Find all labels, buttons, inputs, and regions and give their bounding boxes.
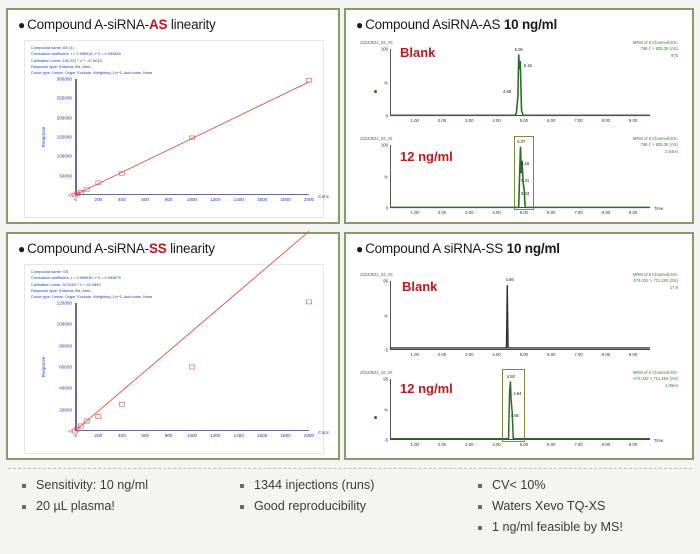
title-prefix: Compound A-siRNA- [27, 17, 149, 32]
trace-marker-dot [374, 90, 377, 93]
x-tick: 8.00 [602, 118, 610, 123]
y-tick-mid: % [384, 407, 388, 412]
footer-column-3: CV< 10% Waters Xevo TQ-XS 1 ng/ml feasib… [478, 478, 623, 541]
bullet-icon [478, 526, 482, 530]
list-item-label: 1 ng/ml feasible by MS! [492, 520, 623, 534]
list-item-label: Sensitivity: 10 ng/ml [36, 478, 148, 492]
bullet-icon [22, 505, 26, 509]
panel-ss-linearity: ●Compound A-siRNA-SS linearity Compound … [6, 232, 340, 460]
y-tick: 300000 [57, 77, 72, 82]
chromatogram-plot: 95 % -5 Blank 4.56 1.00 2.00 3.00 4.00 5… [390, 281, 650, 350]
title-bold: 10 ng/ml [507, 241, 560, 256]
chromatogram-plot: 100 % 0 12 ng/ml 5.07 5.16 5.31 5.43 Tim… [390, 145, 650, 208]
list-item-label: 1344 injections (runs) [254, 478, 374, 492]
x-tick: 5.00 [520, 442, 528, 447]
title-prefix: Compound A-siRNA- [27, 241, 149, 256]
x-axis-label: Conc [318, 430, 329, 435]
peak-label: 4.64 [513, 391, 521, 396]
peak-label: 5.43 [521, 191, 529, 196]
x-tick: -0 [73, 197, 77, 202]
panel-title-as-linearity: ●Compound A-siRNA-AS linearity [18, 17, 216, 32]
y-tick: 60000 [59, 365, 72, 370]
x-tick: 4.00 [492, 352, 500, 357]
calibration-header-as: Compound name: AS (1) Correlation coeffi… [31, 45, 152, 77]
x-tick: 5.00 [520, 118, 528, 123]
peak-label: 4.80 [507, 374, 515, 379]
bullet-icon [240, 505, 244, 509]
y-axis-label: Response [41, 357, 46, 378]
chromatogram-plot: 100 % 0 Blank 5.05 5.16 4.88 1.00 2.00 3… [390, 49, 650, 116]
list-item: Waters Xevo TQ-XS [478, 499, 623, 513]
x-tick: 3.00 [465, 118, 473, 123]
x-tick: 5.00 [520, 210, 528, 215]
list-item: CV< 10% [478, 478, 623, 492]
peak-label: 5.05 [515, 47, 523, 52]
y-axis-label: Response [41, 127, 46, 148]
y-tick-bottom: 0 [386, 206, 388, 211]
footer-divider [8, 468, 692, 470]
trace-svg [390, 145, 650, 208]
x-tick: 2000 [304, 197, 314, 202]
x-tick: 1600 [257, 433, 267, 438]
x-tick: 3.00 [465, 352, 473, 357]
sample-id: 20220521_03_03 [360, 272, 393, 277]
list-item: Sensitivity: 10 ng/ml [22, 478, 148, 492]
y-tick-top: 100 [381, 143, 388, 148]
chromatogram-plot: 95 % -5 12 ng/ml 4.80 4.64 4.86 Time 1.0… [390, 379, 650, 440]
slide: ●Compound A-siRNA-AS linearity Compound … [0, 0, 700, 554]
y-tick-top: 95 [383, 377, 388, 382]
x-tick: 4.00 [492, 210, 500, 215]
bullet-icon [478, 484, 482, 488]
chromatogram-as-sample: 20220521_03_04 MRM of 8 Channels ES- 786… [354, 136, 684, 222]
x-tick: 4.00 [492, 442, 500, 447]
bullet-icon [478, 505, 482, 509]
x-tick: 600 [141, 197, 149, 202]
x-axis-label: Time [654, 438, 663, 443]
calibration-curve-svg [75, 303, 309, 431]
sample-id: 20220521_03_04 [360, 370, 393, 375]
x-tick: 9.00 [629, 118, 637, 123]
x-tick: 800 [165, 433, 173, 438]
bullet-icon [240, 484, 244, 488]
y-tick-bottom: 0 [386, 114, 388, 119]
list-item-label: Good reproducibility [254, 499, 366, 513]
title-suffix: linearity [167, 17, 215, 32]
y-tick: -0 [68, 193, 72, 198]
x-tick: 8.00 [602, 210, 610, 215]
y-tick-bottom: -5 [384, 348, 388, 353]
x-tick: 3.00 [465, 442, 473, 447]
x-tick: 1400 [234, 197, 244, 202]
x-tick: 200 [95, 433, 103, 438]
y-tick-mid: % [384, 313, 388, 318]
title-suffix: linearity [167, 241, 215, 256]
x-tick: 9.00 [629, 442, 637, 447]
x-tick: 200 [95, 197, 103, 202]
calibration-curve-svg [75, 79, 309, 195]
panel-title-ss-linearity: ●Compound A-siRNA-SS linearity [18, 241, 215, 256]
x-tick: 3.00 [465, 210, 473, 215]
calibration-plot-ss: Response Conc -0200004000060000800001000… [75, 303, 309, 431]
x-tick: 1.00 [411, 210, 419, 215]
y-tick: 80000 [59, 343, 72, 348]
x-tick: 600 [141, 433, 149, 438]
x-tick: 9.00 [629, 352, 637, 357]
x-tick: 7.00 [574, 118, 582, 123]
x-tick: 1.00 [411, 442, 419, 447]
x-axis-label [654, 114, 655, 119]
list-item-label: 20 µL plasma! [36, 499, 115, 513]
x-tick: 1200 [210, 433, 220, 438]
x-tick: 7.00 [574, 210, 582, 215]
x-tick: 6.00 [547, 442, 555, 447]
bullet-glyph: ● [356, 242, 363, 256]
trace-svg [390, 49, 650, 116]
x-tick: 6.00 [547, 352, 555, 357]
x-tick: 9.00 [629, 210, 637, 215]
x-tick: 2.00 [438, 442, 446, 447]
x-tick: 1400 [234, 433, 244, 438]
trace-svg [390, 379, 650, 440]
x-tick: 7.00 [574, 352, 582, 357]
peak-label: 5.31 [521, 178, 529, 183]
list-item: Good reproducibility [240, 499, 374, 513]
y-tick-mid: % [384, 174, 388, 179]
peak-label: 5.16 [521, 161, 529, 166]
y-tick: 120000 [57, 301, 72, 306]
x-axis-label: Conc [318, 194, 329, 199]
x-tick: 8.00 [602, 352, 610, 357]
x-tick: 2000 [304, 433, 314, 438]
cal-line-5: Curve type: Linear, Origin: Exclude, Wei… [31, 70, 152, 76]
trace-marker-dot [374, 416, 377, 419]
list-item-label: CV< 10% [492, 478, 546, 492]
chromatogram-ss-blank: 20220521_03_03 MRM of 5 Channels ES- 674… [354, 272, 684, 364]
trace-svg [390, 281, 650, 350]
y-tick-top: 95 [383, 279, 388, 284]
panel-title-as-chromatogram: ●Compound AsiRNA-AS 10 ng/ml [356, 17, 557, 32]
peak-label: 4.56 [506, 277, 514, 282]
chromatogram-as-blank: 20220521_03_03 MRM of 8 Channels ES- 786… [354, 40, 684, 130]
x-tick: 1000 [187, 197, 197, 202]
panel-title-ss-chromatogram: ●Compound A siRNA-SS 10 ng/ml [356, 241, 560, 256]
x-tick: 6.00 [547, 210, 555, 215]
x-axis-label: Time [654, 206, 663, 211]
x-tick: 1600 [257, 197, 267, 202]
list-item: 1 ng/ml feasible by MS! [478, 520, 623, 534]
y-tick: 200000 [57, 115, 72, 120]
bullet-icon [22, 484, 26, 488]
title-prefix: Compound AsiRNA-AS [365, 17, 504, 32]
x-tick: 1.00 [411, 352, 419, 357]
calibration-header-ss: Compound name: SS Correlation coefficien… [31, 269, 152, 301]
footer-summary: Sensitivity: 10 ng/ml 20 µL plasma! 1344… [0, 468, 700, 554]
sample-id: 20220521_03_04 [360, 136, 393, 141]
panel-ss-chromatogram: ●Compound A siRNA-SS 10 ng/ml 20220521_0… [344, 232, 694, 460]
y-tick-bottom: -5 [384, 438, 388, 443]
x-tick: 8.00 [602, 442, 610, 447]
cal-line-5: Curve type: Linear, Origin: Exclude, Wei… [31, 294, 152, 300]
x-tick: 7.00 [574, 442, 582, 447]
x-tick: 800 [165, 197, 173, 202]
chromatogram-ss-sample: 20220521_03_04 MRM of 5 Channels ES- 674… [354, 370, 684, 454]
footer-column-1: Sensitivity: 10 ng/ml 20 µL plasma! [22, 478, 148, 520]
y-tick: 100000 [57, 154, 72, 159]
x-axis-label [654, 348, 655, 353]
x-tick: 400 [118, 197, 126, 202]
y-tick: -0 [68, 429, 72, 434]
calibration-figure-as: Compound name: AS (1) Correlation coeffi… [24, 40, 324, 218]
bullet-glyph: ● [356, 18, 363, 32]
y-tick: 20000 [59, 407, 72, 412]
x-tick: 1000 [187, 433, 197, 438]
title-highlight: AS [149, 17, 167, 32]
y-tick: 100000 [57, 322, 72, 327]
x-tick: 4.00 [492, 118, 500, 123]
x-tick: 1200 [210, 197, 220, 202]
title-highlight: SS [149, 241, 167, 256]
panel-as-linearity: ●Compound A-siRNA-AS linearity Compound … [6, 8, 340, 224]
list-item: 1344 injections (runs) [240, 478, 374, 492]
title-bold: 10 ng/ml [504, 17, 557, 32]
y-tick-top: 100 [381, 47, 388, 52]
x-tick: 2.00 [438, 210, 446, 215]
sample-id: 20220521_03_03 [360, 40, 393, 45]
x-tick: 2.00 [438, 352, 446, 357]
x-tick: 400 [118, 433, 126, 438]
peak-label: 5.07 [517, 139, 525, 144]
x-tick: -0 [73, 433, 77, 438]
x-tick: 1.00 [411, 118, 419, 123]
x-tick: 6.00 [547, 118, 555, 123]
peak-label: 4.88 [503, 89, 511, 94]
peak-label: 4.86 [511, 413, 519, 418]
title-prefix: Compound A siRNA-SS [365, 241, 507, 256]
x-tick: 5.00 [520, 352, 528, 357]
peak-label: 5.16 [524, 63, 532, 68]
y-tick: 40000 [59, 386, 72, 391]
x-tick: 1800 [280, 197, 290, 202]
y-tick: 150000 [57, 135, 72, 140]
y-tick-mid: % [384, 80, 388, 85]
panel-as-chromatogram: ●Compound AsiRNA-AS 10 ng/ml 20220521_03… [344, 8, 694, 224]
bullet-glyph: ● [18, 242, 25, 256]
y-tick: 250000 [57, 96, 72, 101]
bullet-glyph: ● [18, 18, 25, 32]
y-tick: 50000 [59, 173, 72, 178]
calibration-plot-as: Response Conc -0500001000001500002000002… [75, 79, 309, 195]
list-item: 20 µL plasma! [22, 499, 148, 513]
calibration-figure-ss: Compound name: SS Correlation coefficien… [24, 264, 324, 454]
list-item-label: Waters Xevo TQ-XS [492, 499, 605, 513]
footer-column-2: 1344 injections (runs) Good reproducibil… [240, 478, 374, 520]
x-tick: 2.00 [438, 118, 446, 123]
x-tick: 1800 [280, 433, 290, 438]
